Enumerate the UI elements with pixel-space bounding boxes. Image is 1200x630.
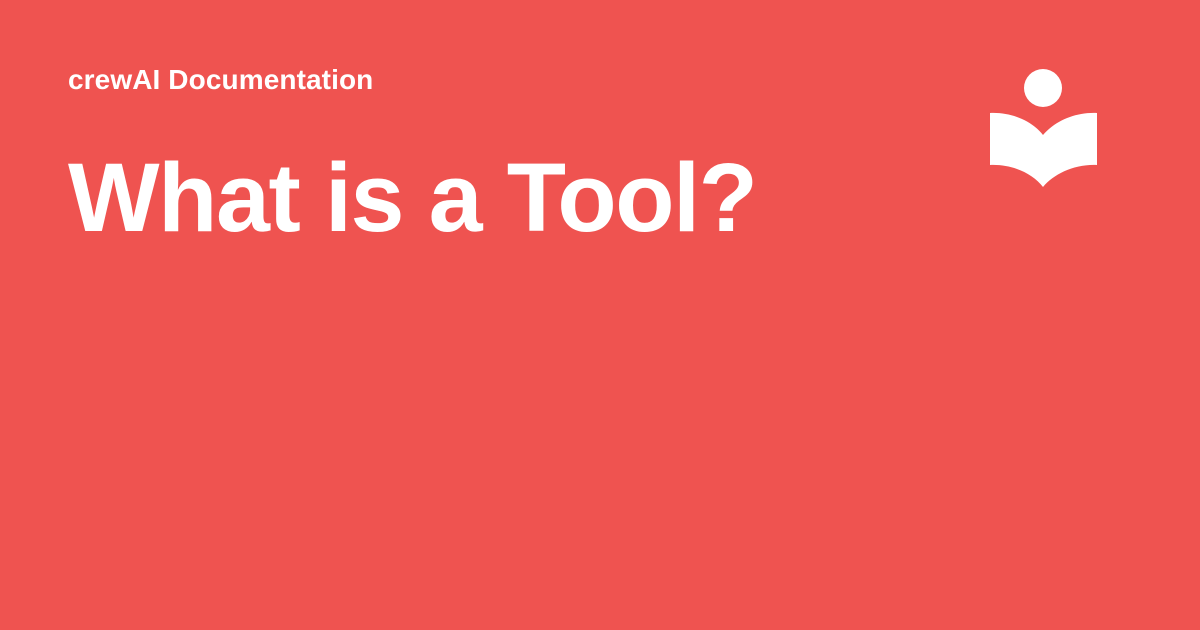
site-name-eyebrow: crewAI Documentation	[68, 62, 948, 99]
open-book-reader-icon	[985, 62, 1105, 194]
card-text-block: crewAI Documentation What is a Tool?	[68, 62, 948, 250]
open-graph-card: crewAI Documentation What is a Tool?	[0, 0, 1200, 630]
page-title: What is a Tool?	[68, 147, 948, 250]
